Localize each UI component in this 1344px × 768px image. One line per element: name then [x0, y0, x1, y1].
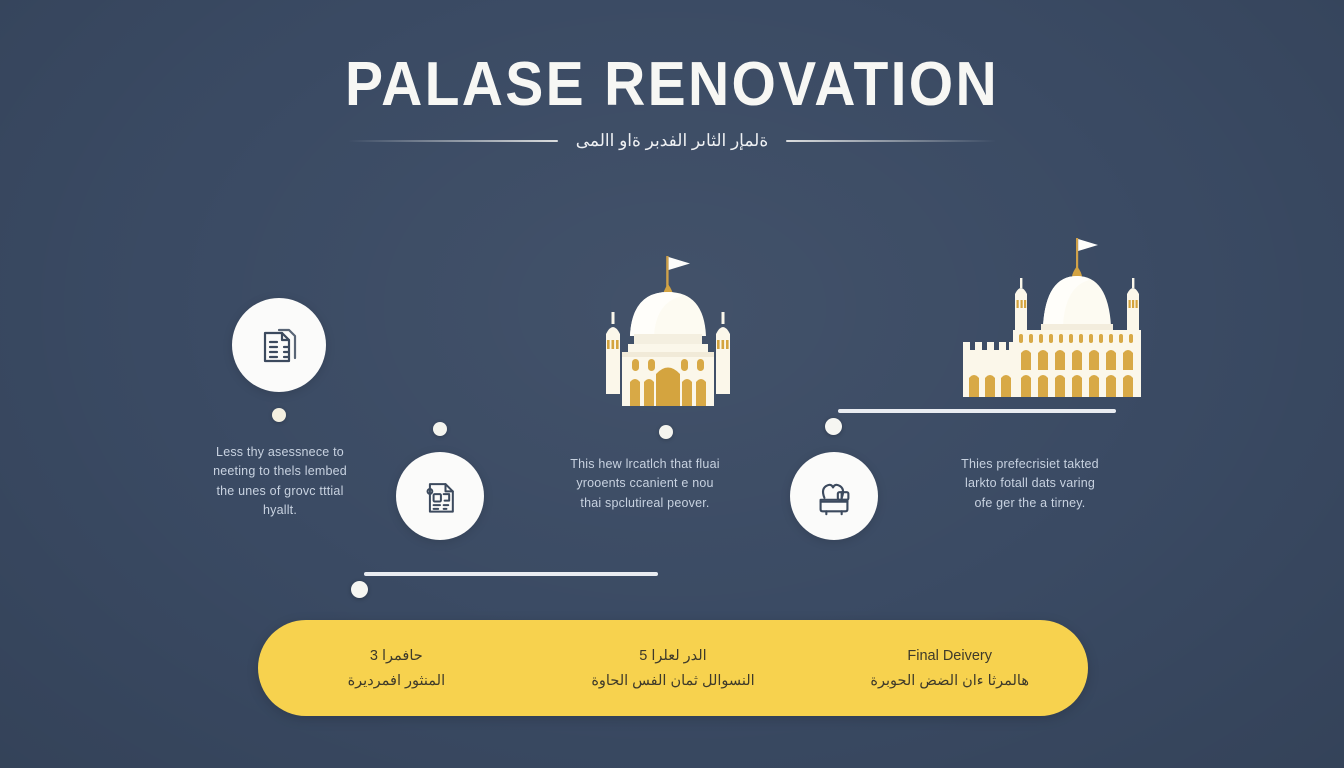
- node-assessment-circle[interactable]: [232, 298, 326, 392]
- node-assessment-dot: [272, 408, 286, 422]
- footer-cell-1-line2: المنثور افمرديرة: [268, 673, 525, 689]
- subtitle-rule-left: [348, 140, 558, 142]
- node-construction-description: This hew lrcatlch that fluai yrooents cc…: [570, 455, 720, 513]
- page-subtitle: ةلمإر الثاىر الفدبر ةاو االمى: [576, 131, 769, 151]
- documents-icon: [255, 321, 303, 369]
- footer-cell-3-line1: Final Deivery: [821, 648, 1078, 664]
- node-blueprint-dot: [433, 422, 447, 436]
- footer-cell-2-line1: 5 الدر لعلرا: [545, 648, 802, 664]
- subtitle-row: ةلمإر الثاىر الفدبر ةاو االمى: [0, 131, 1344, 151]
- connector-dot-footer: [351, 581, 368, 598]
- connector-line-footer: [364, 572, 658, 576]
- palace-wing-illustration: [955, 222, 1170, 402]
- footer-cell-2[interactable]: 5 الدر لعلرا النسوالل ثمان الفس الحاوة: [535, 648, 812, 689]
- header: PALASE RENOVATION ةلمإر الثاىر الفدبر ةا…: [0, 52, 1344, 151]
- connector-line-delivery: [838, 409, 1116, 413]
- node-blueprint-circle[interactable]: [396, 452, 484, 540]
- subtitle-rule-right: [786, 140, 996, 142]
- footer-cell-3[interactable]: Final Deivery هالمرثا ءان الضض الحوبرة: [811, 648, 1088, 689]
- furniture-sofa-icon: [811, 473, 857, 519]
- node-assessment-description: Less thy asessnece to neeting to thels l…: [205, 443, 355, 521]
- blueprint-document-icon: [418, 474, 462, 518]
- footer-cell-1-line1: 3 حافمرا: [268, 648, 525, 664]
- connector-dot-delivery: [825, 418, 842, 435]
- palace-dome-illustration: [578, 228, 758, 413]
- page-title: PALASE RENOVATION: [54, 52, 1290, 117]
- node-construction-dot: [659, 425, 673, 439]
- infographic-canvas: PALASE RENOVATION ةلمإر الثاىر الفدبر ةا…: [0, 0, 1344, 768]
- footer-cell-1[interactable]: 3 حافمرا المنثور افمرديرة: [258, 648, 535, 689]
- node-delivery-description: Thies prefecrisiet takted larkto fotall …: [955, 455, 1105, 513]
- footer-bar: 3 حافمرا المنثور افمرديرة 5 الدر لعلرا ا…: [258, 620, 1088, 716]
- footer-cell-3-line2: هالمرثا ءان الضض الحوبرة: [821, 673, 1078, 689]
- footer-cell-2-line2: النسوالل ثمان الفس الحاوة: [545, 673, 802, 689]
- node-furnishing-circle[interactable]: [790, 452, 878, 540]
